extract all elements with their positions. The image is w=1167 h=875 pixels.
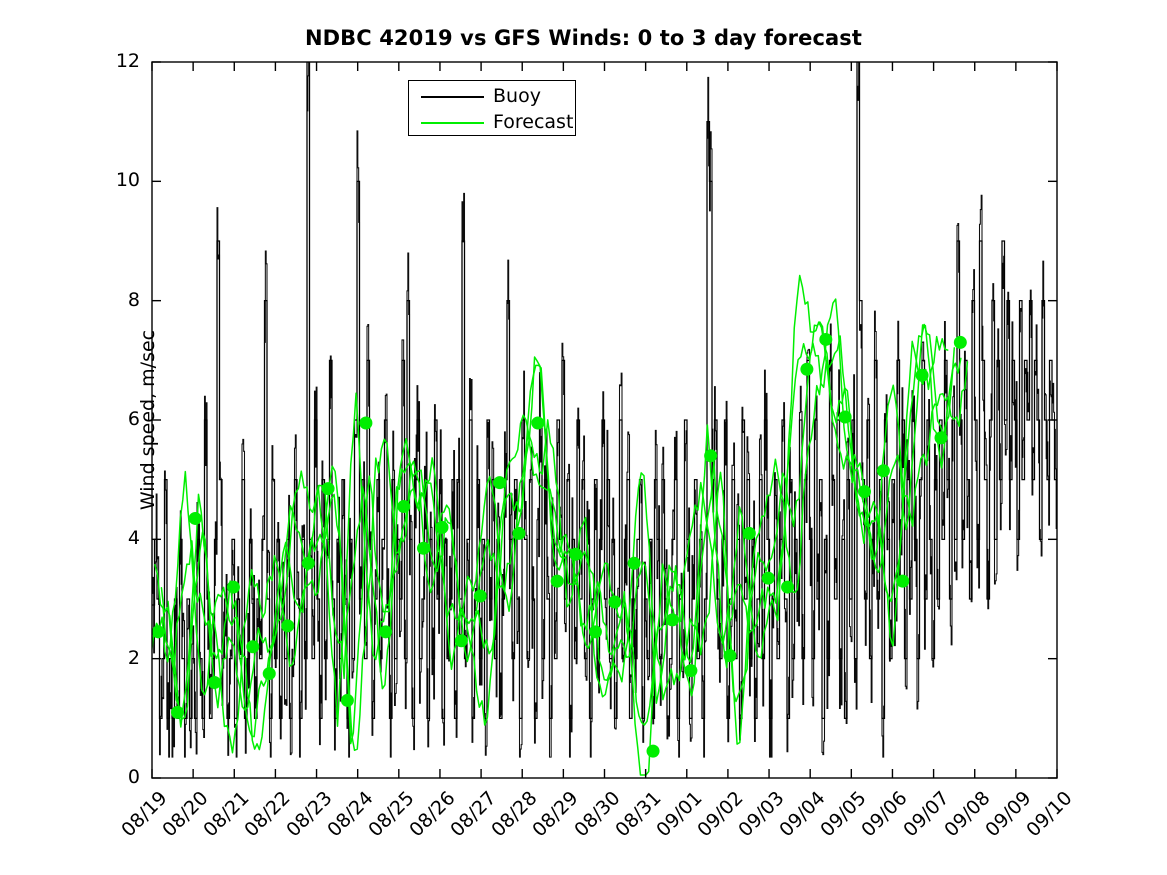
legend-label: Buoy (493, 85, 541, 107)
plot-canvas (0, 0, 1167, 875)
chart-figure: NDBC 42019 vs GFS Winds: 0 to 3 day fore… (0, 0, 1167, 875)
legend-label: Forecast (493, 111, 573, 133)
legend[interactable]: BuoyForecast (408, 80, 576, 136)
legend-swatch-forecast (421, 122, 484, 124)
legend-swatch-buoy (421, 96, 484, 98)
legend-item-forecast[interactable]: Forecast (409, 110, 577, 136)
legend-item-buoy[interactable]: Buoy (409, 84, 577, 110)
